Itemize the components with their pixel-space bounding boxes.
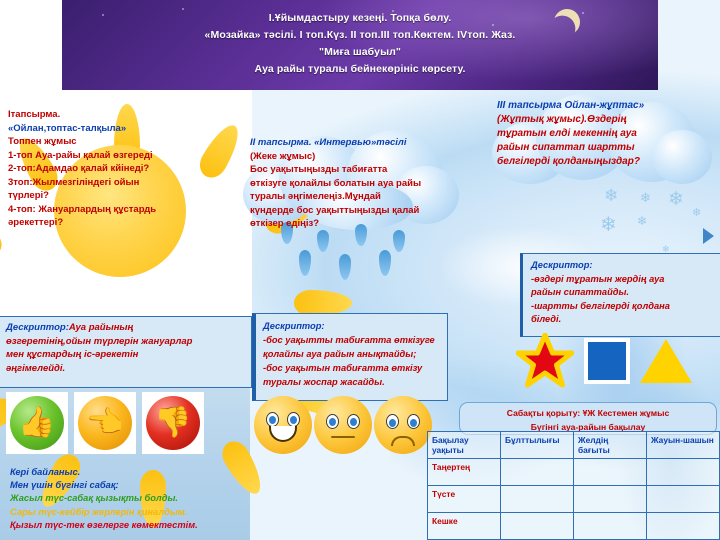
table-row: Кешке: [428, 513, 720, 540]
neutral-face-icon[interactable]: [314, 396, 372, 454]
observation-table: Бақылау уақыты Бұлттылығы Желдің бағыты …: [427, 431, 720, 540]
task-2-line: өткізер едіңіз?: [250, 217, 462, 231]
snowflake-icon: ❄: [637, 214, 647, 228]
task-2-heading: II тапсырма. «Интервью»тәсілі: [250, 136, 462, 150]
smiley-feedback-row: [254, 396, 432, 454]
thumbs-down-icon[interactable]: 👎: [146, 396, 200, 450]
descriptor-middle-line: туралы жоспар жасайды.: [263, 375, 443, 389]
task-1-text: Ітапсырма. «Ойлан,топтас-талқыла» Топпен…: [8, 108, 213, 230]
descriptor-left-line: әңгімелейді.: [6, 362, 246, 376]
table-cell-cloudiness[interactable]: [501, 486, 574, 513]
task-1-line: әрекеттері?: [8, 216, 213, 230]
table-row: Таңертең: [428, 459, 720, 486]
triangle-shape-icon: [640, 339, 692, 383]
task-1-heading: Ітапсырма.: [8, 108, 213, 122]
descriptor-middle-box: Дескриптор: -бос уақытты табиғатта өткіз…: [252, 313, 448, 401]
snowflake-icon: ❄: [600, 212, 617, 237]
descriptor-middle-line: -бос уақытын табиғатта өткізу: [263, 361, 443, 375]
descriptor-left-line: мен құстардың іс-әрекетін: [6, 348, 246, 362]
star-shape-icon: [516, 333, 574, 389]
table-header-cell: Бұлттылығы: [501, 432, 574, 459]
descriptor-right-line: райын сипаттайды.: [531, 286, 715, 300]
task-2-line: туралы әңгімелеңіз.Мұндай: [250, 190, 462, 204]
thumbs-up-tile[interactable]: 👍: [6, 392, 68, 454]
table-cell-time: Таңертең: [428, 459, 501, 486]
task-1-line: 2-топ:Адамдао қалай кйінеді?: [8, 162, 213, 176]
task-3-text: III тапсырма Ойлан-жұптас» (Жұптық жұмыс…: [497, 99, 715, 169]
descriptor-right-box: Дескриптор: -өздері тұратын жердің ауа р…: [520, 253, 720, 337]
table-header-cell: Бақылау уақыты: [428, 432, 501, 459]
thumbs-side-icon[interactable]: 👈: [78, 396, 132, 450]
sad-face-icon[interactable]: [374, 396, 432, 454]
descriptor-right-heading: Дескриптор:: [531, 260, 593, 270]
snowflake-icon: ❄: [692, 206, 701, 219]
thumbs-up-icon[interactable]: 👍: [10, 396, 64, 450]
table-cell-time: Кешке: [428, 513, 501, 540]
descriptor-right-line: біледі.: [531, 313, 715, 327]
feedback-line: Кері байланыс.: [10, 466, 250, 479]
task-3-line: белгілерді қолданыңыздар?: [497, 155, 715, 169]
descriptor-left-line: Ауа райының: [69, 322, 133, 333]
title-line-4: Ауа райы туралы бейнекөрініс көрсету.: [62, 61, 658, 78]
descriptor-left-line: өзгеретінің,ойын түрлерін жануарлар: [6, 335, 246, 349]
table-cell-precipitation[interactable]: [647, 513, 720, 540]
task-1-line: түрлері?: [8, 189, 213, 203]
feedback-line: Қызыл түс-тек өзелерге көмектестім.: [10, 519, 250, 532]
task-2-text: II тапсырма. «Интервью»тәсілі (Жеке жұмы…: [250, 136, 462, 231]
play-arrow-icon[interactable]: [703, 228, 714, 244]
table-header-row: Бақылау уақыты Бұлттылығы Желдің бағыты …: [428, 432, 720, 459]
table-cell-cloudiness[interactable]: [501, 459, 574, 486]
descriptor-middle-heading: Дескриптор:: [263, 319, 443, 333]
table-cell-time: Түсте: [428, 486, 501, 513]
thumbs-feedback-row: 👍 👈 👎: [6, 392, 204, 454]
table-header-cell: Желдің бағыты: [574, 432, 647, 459]
feedback-line: Жасыл түс-сабақ қызықты болды.: [10, 492, 250, 505]
task-1-line: Топпен жұмыс: [8, 135, 213, 149]
feedback-line: Сары түс-кейбір жерлерін қиналдым.: [10, 506, 250, 519]
square-shape-icon: [584, 338, 630, 384]
table-cell-precipitation[interactable]: [647, 486, 720, 513]
thumbs-down-tile[interactable]: 👎: [142, 392, 204, 454]
table-cell-precipitation[interactable]: [647, 459, 720, 486]
task-2-line: (Жеке жұмыс): [250, 150, 462, 164]
task-3-heading: III тапсырма Ойлан-жұптас»: [497, 99, 715, 113]
feedback-text-block: Кері байланыс. Мен үшін бүгінгі сабақ: Ж…: [10, 466, 250, 532]
task-1-subheading: «Ойлан,топтас-талқыла»: [8, 122, 213, 136]
descriptor-right-line: -шартты белгілерді қолдана: [531, 300, 715, 314]
title-line-3: "Миға шабуыл": [62, 44, 658, 61]
task-1-line: 3топ:Жылмезгіліндегі ойын: [8, 176, 213, 190]
task-2-line: күндерде бос уақыттыңызды қалай: [250, 204, 462, 218]
thumbs-side-tile[interactable]: 👈: [74, 392, 136, 454]
table-header-cell: Жауын-шашын: [647, 432, 720, 459]
feedback-line: Мен үшін бүгінгі сабақ:: [10, 479, 250, 492]
title-banner: I.Ұйымдастыру кезеңі. Топқа бөлу. «Мозай…: [62, 0, 658, 90]
table-cell-wind[interactable]: [574, 513, 647, 540]
task-3-line: тұратын елді мекеннің ауа: [497, 127, 715, 141]
slide-canvas: ❄ ❄ ❄ ❄ ❄ ❄ ❄ I.Ұйымдастыру кезеңі. Топқ…: [0, 0, 720, 540]
table-cell-wind[interactable]: [574, 486, 647, 513]
descriptor-right-line: -өздері тұратын жердің ауа: [531, 273, 715, 287]
table-cell-wind[interactable]: [574, 459, 647, 486]
task-1-line: 4-топ: Жануарлардың құстардь: [8, 203, 213, 217]
task-2-line: Бос уақытыңызды табиғатта: [250, 163, 462, 177]
descriptor-left-heading: Дескриптор:: [6, 322, 69, 333]
conclusion-line-1: Сабақты қорыту: ҰЖ Кестемен жұмыс: [460, 406, 716, 420]
table-cell-cloudiness[interactable]: [501, 513, 574, 540]
table-row: Түсте: [428, 486, 720, 513]
task-1-line: 1-топ Ауа-райы қалай өзгереді: [8, 149, 213, 163]
task-3-line: райын сипаттап шартты: [497, 141, 715, 155]
task-2-line: өткізуге қолайлы болатын ауа райы: [250, 177, 462, 191]
descriptor-middle-line: қолайлы ауа райын анықтайды;: [263, 347, 443, 361]
task-3-line: (Жұптық жұмыс).Өздерің: [497, 113, 715, 127]
happy-face-icon[interactable]: [254, 396, 312, 454]
descriptor-middle-line: -бос уақытты табиғатта өткізуге: [263, 333, 443, 347]
symbol-shapes-row: [516, 333, 692, 389]
descriptor-left-box: Дескриптор:Ауа райының өзгеретінің,ойын …: [0, 316, 252, 388]
